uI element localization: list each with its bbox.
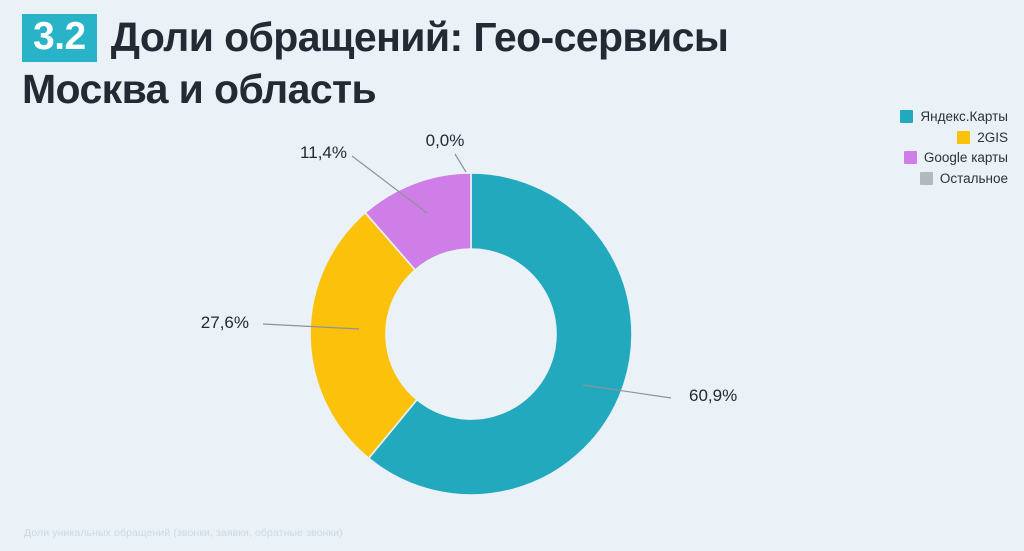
slice-value-label: 0,0% xyxy=(426,131,465,150)
legend-item-label: 2GIS xyxy=(977,131,1008,145)
slice-value-label: 27,6% xyxy=(201,313,249,332)
donut-chart-svg: 60,9%27,6%11,4%0,0% xyxy=(0,90,860,520)
legend-item-label: Остальное xyxy=(940,172,1008,186)
legend-item-label: Яндекс.Карты xyxy=(920,110,1008,124)
legend-item-google-maps[interactable]: Google карты xyxy=(904,151,1008,165)
legend-swatch-icon xyxy=(920,172,933,185)
legend-swatch-icon xyxy=(957,131,970,144)
legend-swatch-icon xyxy=(900,110,913,123)
section-number-badge: 3.2 xyxy=(22,14,97,62)
legend-item-other[interactable]: Остальное xyxy=(920,172,1008,186)
title-text-line1: Доли обращений: Гео-сервисы xyxy=(111,16,729,59)
slice-value-label: 11,4% xyxy=(300,143,347,162)
donut-slice-group xyxy=(310,173,632,495)
slice-leader-line xyxy=(455,154,466,172)
legend-item-yandex-maps[interactable]: Яндекс.Карты xyxy=(900,110,1008,124)
slice-label-group: 60,9%27,6%11,4%0,0% xyxy=(201,131,737,405)
legend-swatch-icon xyxy=(904,151,917,164)
slice-value-label: 60,9% xyxy=(689,386,737,405)
slide-root: 3.2 Доли обращений: Гео-сервисы Москва и… xyxy=(0,0,1024,551)
title-first-line: 3.2 Доли обращений: Гео-сервисы xyxy=(22,14,902,62)
legend-item-2gis[interactable]: 2GIS xyxy=(957,131,1008,145)
footer-note: Доли уникальных обращений (звонки, заявк… xyxy=(24,527,343,539)
chart-legend: Яндекс.Карты 2GIS Google карты Остальное xyxy=(900,110,1008,185)
donut-chart: 60,9%27,6%11,4%0,0% xyxy=(0,90,860,520)
legend-item-label: Google карты xyxy=(924,151,1008,165)
